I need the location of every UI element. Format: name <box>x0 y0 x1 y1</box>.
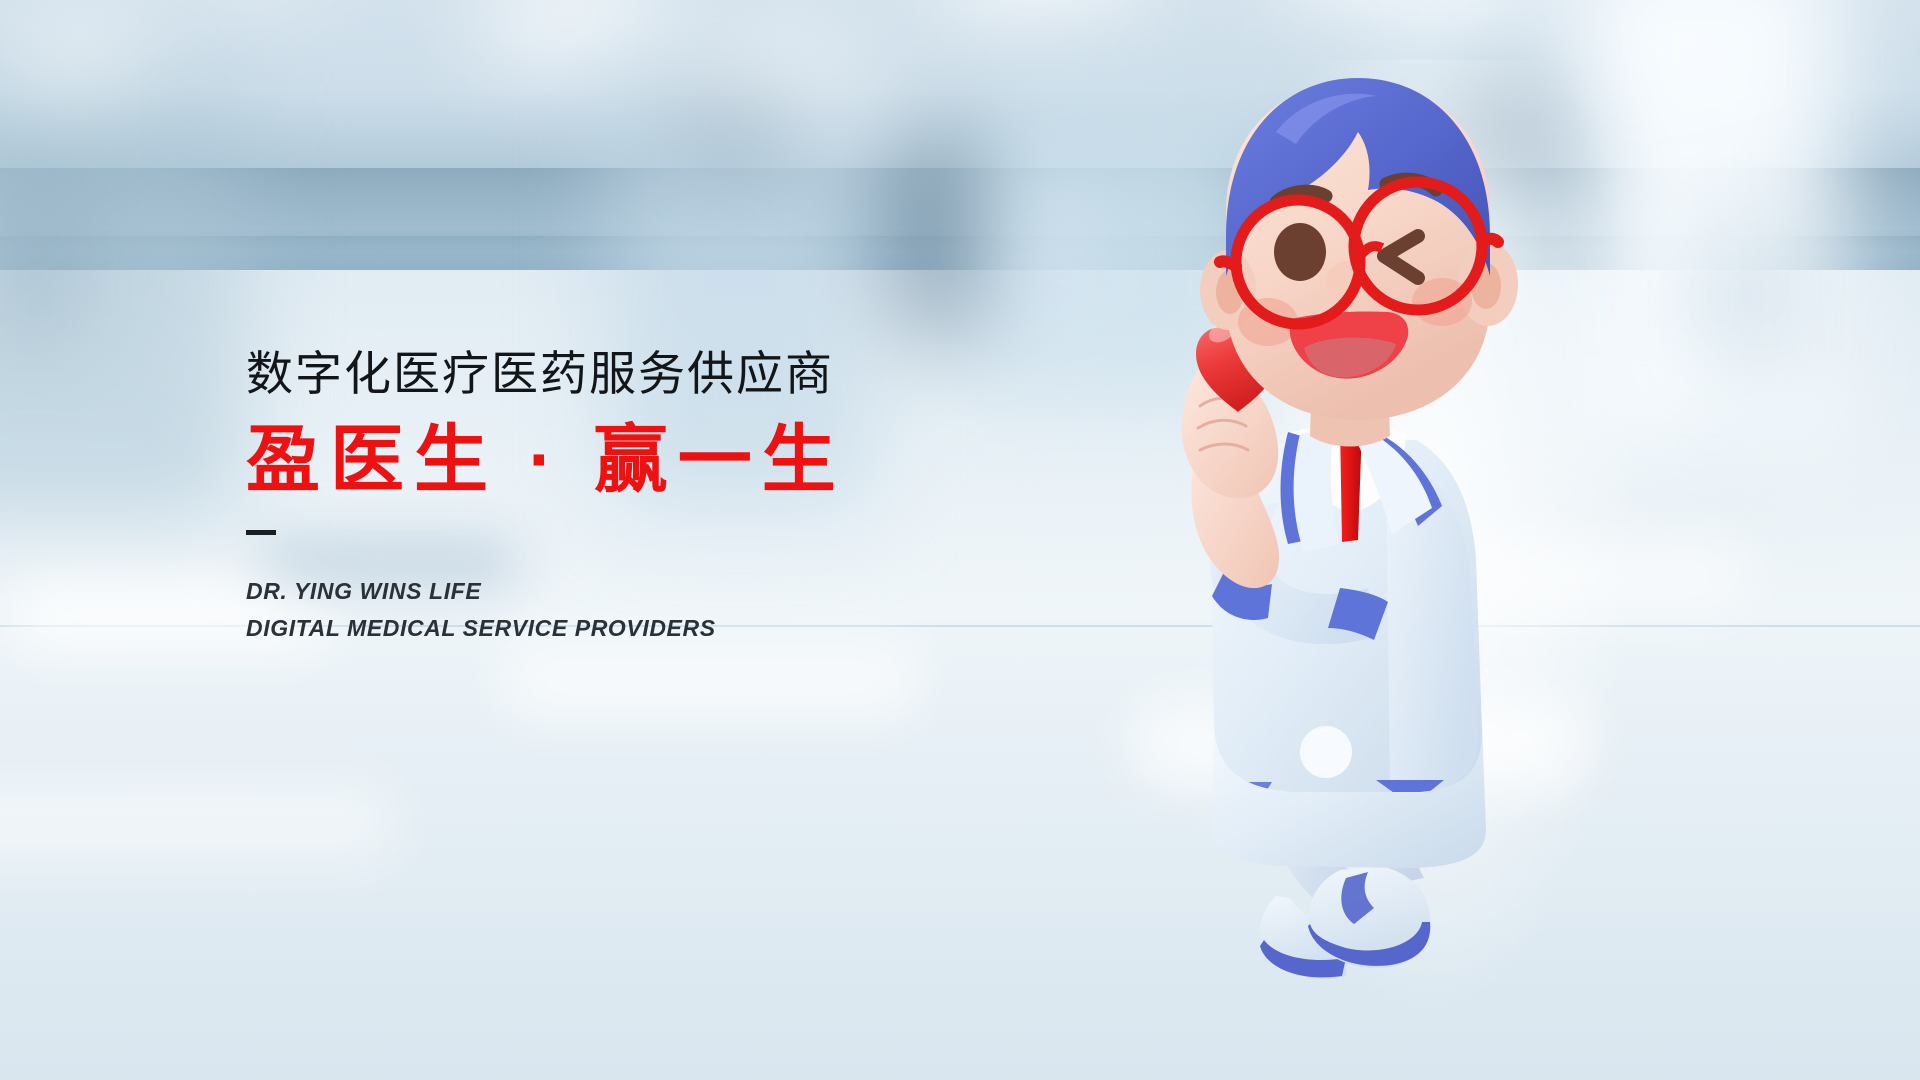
subtitle-line-1: DR. YING WINS LIFE <box>246 573 1066 610</box>
mascot-coat-button-top <box>1300 726 1352 778</box>
hero-banner: 数字化医疗医药服务供应商 盈医生 · 赢一生 DR. YING WINS LIF… <box>0 0 1920 1080</box>
page-slogan: 盈医生 · 赢一生 <box>246 420 1066 500</box>
subtitle-english-block: DR. YING WINS LIFE DIGITAL MEDICAL SERVI… <box>246 573 1066 648</box>
floor-reflection-2 <box>500 640 920 720</box>
mascot-eye-open <box>1274 223 1326 281</box>
subtitle-line-2: DIGITAL MEDICAL SERVICE PROVIDERS <box>246 610 1066 647</box>
page-title-headline: 数字化医疗医药服务供应商 <box>246 348 1066 400</box>
divider-rule <box>246 530 276 535</box>
hero-text-block: 数字化医疗医药服务供应商 盈医生 · 赢一生 DR. YING WINS LIF… <box>246 348 1066 647</box>
floor-reflection-4 <box>0 780 400 870</box>
mascot-dr-ying <box>1180 40 1640 1060</box>
